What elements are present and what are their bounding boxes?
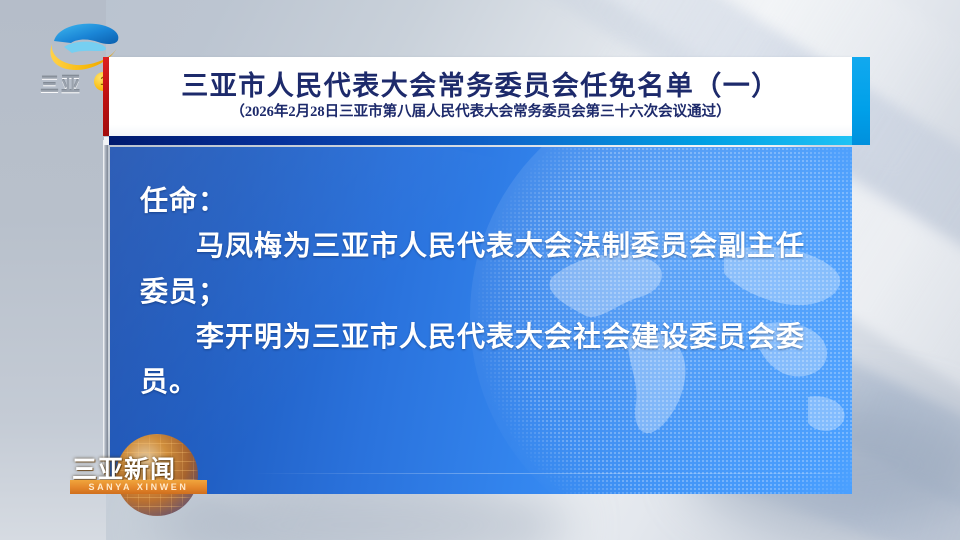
page-title: 三亚市人民代表大会常务委员会任免名单（一）: [181, 72, 780, 100]
channel-logo-text: 三亚: [40, 70, 82, 97]
broadcast-screen: 三亚 1 三亚市人民代表大会常务委员会任免名单（一） （2026年2月28日三亚…: [0, 0, 960, 540]
body-line: 李开明为三亚市人民代表大会社会建设委员会委员。: [140, 315, 826, 406]
body-line: 马凤梅为三亚市人民代表大会法制委员会副主任委员；: [140, 224, 826, 315]
show-name-bar: SANYA XINWEN: [70, 480, 207, 494]
show-name-en: SANYA XINWEN: [88, 482, 188, 492]
panel-bottom-line: [250, 473, 840, 474]
title-right-accent-bar: [852, 57, 870, 145]
content-panel: 任命： 马凤梅为三亚市人民代表大会法制委员会副主任委员； 李开明为三亚市人民代表…: [110, 147, 852, 494]
body-line: 任命：: [140, 179, 826, 224]
page-subtitle: （2026年2月28日三亚市第八届人民代表大会常务委员会第三十六次会议通过）: [230, 105, 730, 121]
title-underline-gradient: [109, 136, 852, 145]
title-card: 三亚市人民代表大会常务委员会任免名单（一） （2026年2月28日三亚市第八届人…: [109, 57, 852, 136]
left-panel-edge: [103, 140, 108, 470]
show-logo: 三亚新闻 SANYA XINWEN: [64, 438, 214, 510]
announcement-body: 任命： 马凤梅为三亚市人民代表大会法制委员会副主任委员； 李开明为三亚市人民代表…: [140, 179, 826, 406]
